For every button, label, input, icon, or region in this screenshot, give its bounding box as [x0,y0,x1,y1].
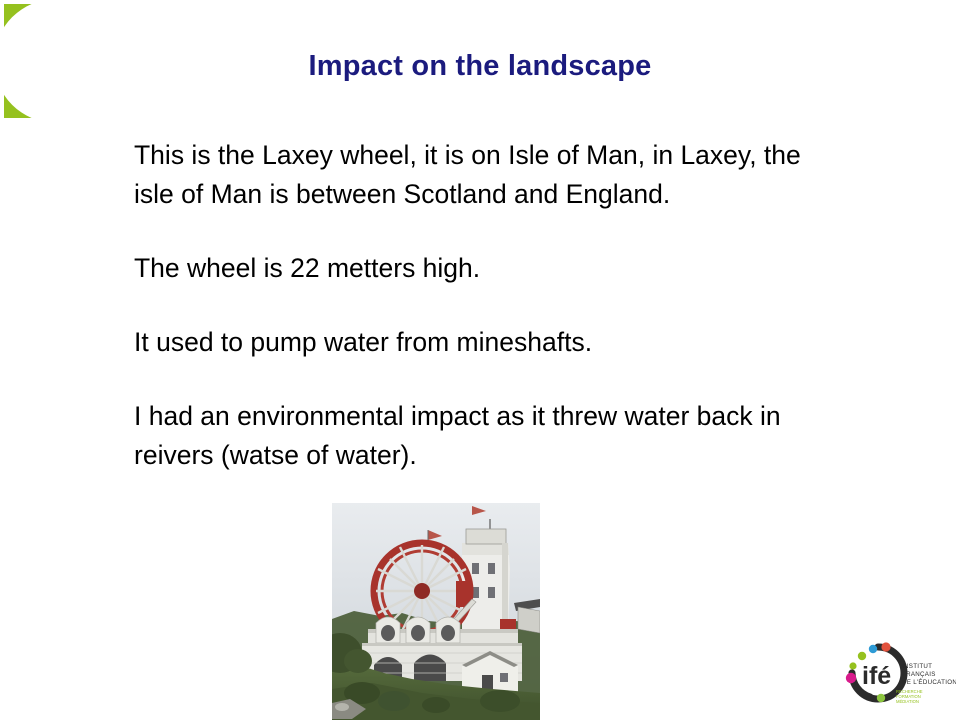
paragraph-2: The wheel is 22 metters high. [134,249,834,288]
page-title: Impact on the landscape [0,50,960,83]
logo-wordmark: ifé [862,662,891,690]
logo-dot-lime [877,694,885,702]
ife-logo: ifé INSTITUT FRANÇAIS DE L'ÉDUCATION REC… [840,640,956,704]
paragraph-4: I had an environmental impact as it thre… [134,397,834,475]
laxey-wheel-photo [332,503,540,720]
logo-dot-green [858,652,866,660]
slide-canvas: Impact on the landscape This is the Laxe… [0,0,960,720]
logo-sub-3: MÉDIATION [896,699,919,704]
logo-dot-red [881,642,890,651]
logo-dot-magenta [846,673,856,683]
paragraph-1: This is the Laxey wheel, it is on Isle o… [134,136,834,214]
logo-dot-green-2 [849,662,856,669]
logo-line-1: INSTITUT [902,663,932,670]
ife-logo-mark: ifé INSTITUT FRANÇAIS DE L'ÉDUCATION REC… [840,640,956,704]
logo-line-2: FRANÇAIS [902,671,936,678]
paragraph-3: It used to pump water from mineshafts. [134,323,834,362]
body-text-block: This is the Laxey wheel, it is on Isle o… [134,136,874,475]
logo-line-3: DE L'ÉDUCATION [902,679,956,686]
laxey-wheel-illustration [332,503,540,720]
logo-dot-blue [869,645,877,653]
